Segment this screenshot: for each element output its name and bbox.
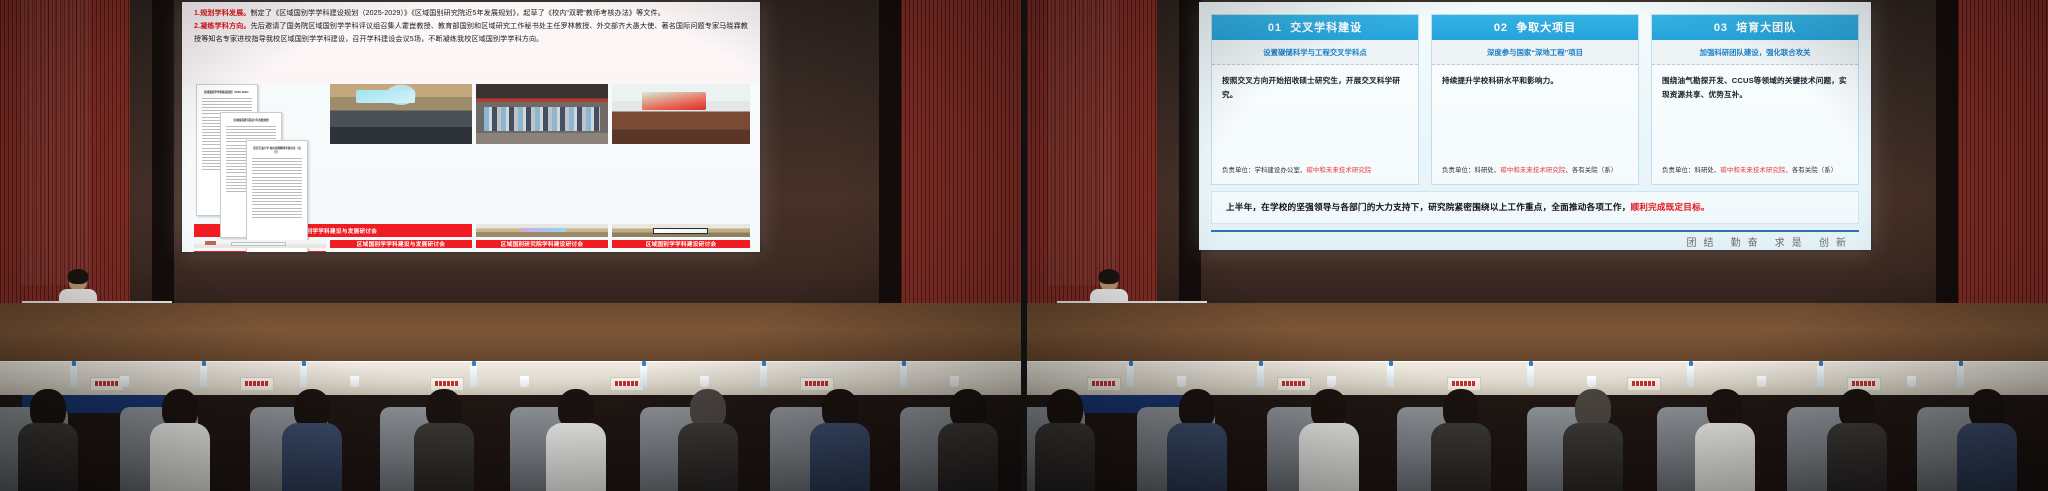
task-03-unit-highlight: 碳中和未来技术研究院 [1720,167,1785,174]
task-01-title: 交叉学科建设 [1290,22,1362,34]
grid-caption-4: 区域国别学学科建设研讨会 [612,240,750,248]
task-columns: 01 交叉学科建设 设置碳储科学与工程交叉学科点 按照交叉方向开始招收硕士研究生… [1211,14,1859,185]
document-2-title: 区域国别研究院近5年发展规划 [226,119,276,123]
slide-summary: 上半年，在学校的坚强领导与各部门的大力支持下，研究院紧密围绕以上工作重点，全面推… [1211,191,1859,224]
slide-paragraph-1: 1.规划学科发展。制定了《区域国别学学科建设规划（2025-2029）》《区域国… [194,7,748,20]
task-02-unit-tail: 、各有关院（系） [1565,167,1617,174]
task-03-number: 03 [1714,22,1728,34]
presenter-hair-right [1099,269,1120,284]
task-03-body: 围绕油气勘探开发、CCUS等领域的关键技术问题，实现资源共享、优势互补。 [1652,65,1858,163]
task-03-unit-label: 负责单位： [1662,167,1694,174]
task-column-01-header: 01 交叉学科建设 [1212,15,1418,40]
task-01-unit-plain: 学科建设办公室、 [1254,167,1306,174]
slide-discipline-development: 1.规划学科发展。制定了《区域国别学学科建设规划（2025-2029）》《区域国… [182,2,760,252]
task-02-body: 持续提升学校科研水平和影响力。 [1432,65,1638,163]
wall-gap-right-2 [1936,0,1958,314]
slide-paragraph-2: 2.凝练学科方向。先后邀请了国务院区域国别学学科评议组召集人霍崑教授、教育部国别… [194,20,748,46]
grid-photo-hall-1 [476,224,608,237]
wood-panel-right-2 [1958,0,2048,314]
task-column-03: 03 培育大团队 加强科研团队建设，强化联合攻关 围绕油气勘探开发、CCUS等领… [1651,14,1859,185]
summary-highlight: 顺利完成既定目标。 [1631,202,1710,212]
task-column-03-header: 03 培育大团队 [1652,15,1858,40]
paragraph-1-text: 制定了《区域国别学学科建设规划（2025-2029）》《区域国别研究院近5年发展… [250,9,664,17]
task-02-number: 02 [1494,22,1508,34]
grid-caption-2: 区域国别学学科建设与发展研讨会 [330,240,472,248]
task-02-title: 争取大项目 [1516,22,1576,34]
task-02-unit-highlight: 碳中和未来技术研究院 [1500,167,1565,174]
wall-gap-left-2 [1179,0,1201,314]
task-02-unit: 负责单位：科研处、碳中和未来技术研究院、各有关院（系） [1432,163,1638,185]
document-3-lines [252,158,302,218]
left-conference-photo: 1.规划学科发展。制定了《区域国别学学科建设规划（2025-2029）》《区域国… [0,0,1021,491]
right-conference-photo: 01 交叉学科建设 设置碳储科学与工程交叉学科点 按照交叉方向开始招收硕士研究生… [1027,0,2048,491]
task-01-unit-highlight: 碳中和未来技术研究院 [1306,167,1371,174]
presenter-hair [68,269,89,284]
document-1-title: 区域国别学学科建设规划（2025-2029） [202,91,252,95]
grid-photo-group [476,84,608,144]
task-02-unit-plain: 科研处、 [1474,167,1500,174]
paragraph-2-text: 先后邀请了国务院区域国别学学科评议组召集人霍崑教授、教育部国别和区域研究工作秘书… [194,22,748,43]
slide-key-tasks: 01 交叉学科建设 设置碳储科学与工程交叉学科点 按照交叉方向开始招收硕士研究生… [1199,2,1871,250]
slide-photo-grid: 区域国别学学科建设规划（2025-2029） 区域国别研究院近5年发展规划 [194,84,750,252]
paragraph-2-lead: 2.凝练学科方向。 [194,22,251,30]
paragraph-1-lead: 1.规划学科发展。 [194,9,250,17]
slide-calligraphy-motto: 团结 勤奋 求是 创新 [1686,234,1853,249]
task-column-02: 02 争取大项目 深度参与国家“深地工程”项目 持续提升学校科研水平和影响力。 … [1431,14,1639,185]
task-03-unit-plain: 科研处、 [1694,167,1720,174]
task-01-number: 01 [1268,22,1282,34]
task-02-subtitle: 深度参与国家“深地工程”项目 [1432,40,1638,65]
grid-photo-hall-2 [612,224,750,237]
projection-screen-right: 01 交叉学科建设 设置碳储科学与工程交叉学科点 按照交叉方向开始招收硕士研究生… [1199,2,1871,250]
summary-text: 上半年，在学校的坚强领导与各部门的大力支持下，研究院紧密围绕以上工作重点，全面推… [1226,202,1631,212]
audience-right [1027,371,2048,491]
wood-panel-beige-left-2 [1047,0,1117,285]
task-column-02-header: 02 争取大项目 [1432,15,1638,40]
document-page-3: 西安石油大学 校内双聘教师考核办法（试行） [246,140,308,252]
screenshot-stage: 1.规划学科发展。制定了《区域国别学学科建设规划（2025-2029）》《区域国… [0,0,2048,491]
slide-footer-rule [1211,230,1859,232]
task-01-subtitle: 设置碳储科学与工程交叉学科点 [1212,40,1418,65]
task-column-01: 01 交叉学科建设 设置碳储科学与工程交叉学科点 按照交叉方向开始招收硕士研究生… [1211,14,1419,185]
document-3-title: 西安石油大学 校内双聘教师考核办法（试行） [252,147,302,155]
wood-panel-right [901,0,1021,314]
task-01-unit: 负责单位：学科建设办公室、碳中和未来技术研究院 [1212,163,1418,185]
wall-gap-right [879,0,901,314]
projection-screen-left: 1.规划学科发展。制定了《区域国别学学科建设规划（2025-2029）》《区域国… [182,2,760,252]
grid-photo-seminar [330,84,472,144]
grid-photo-meeting-room [612,84,750,144]
wood-panel-beige-left [20,0,90,285]
task-02-unit-label: 负责单位： [1442,167,1474,174]
grid-photo-white-room [194,240,326,248]
task-03-unit: 负责单位：科研处、碳中和未来技术研究院、各有关院（系） [1652,163,1858,185]
grid-document-stack: 区域国别学学科建设规划（2025-2029） 区域国别研究院近5年发展规划 [194,84,326,221]
task-03-subtitle: 加强科研团队建设，强化联合攻关 [1652,40,1858,65]
task-01-unit-label: 负责单位： [1222,167,1254,174]
wall-gap-left [152,0,174,314]
task-03-unit-tail: 、各有关院（系） [1785,167,1837,174]
grid-caption-3: 区域国别研究院学科建设研讨会 [476,240,608,248]
task-01-body: 按照交叉方向开始招收硕士研究生，开展交叉科学研究。 [1212,65,1418,163]
task-03-title: 培育大团队 [1736,22,1796,34]
audience-left [0,371,1021,491]
